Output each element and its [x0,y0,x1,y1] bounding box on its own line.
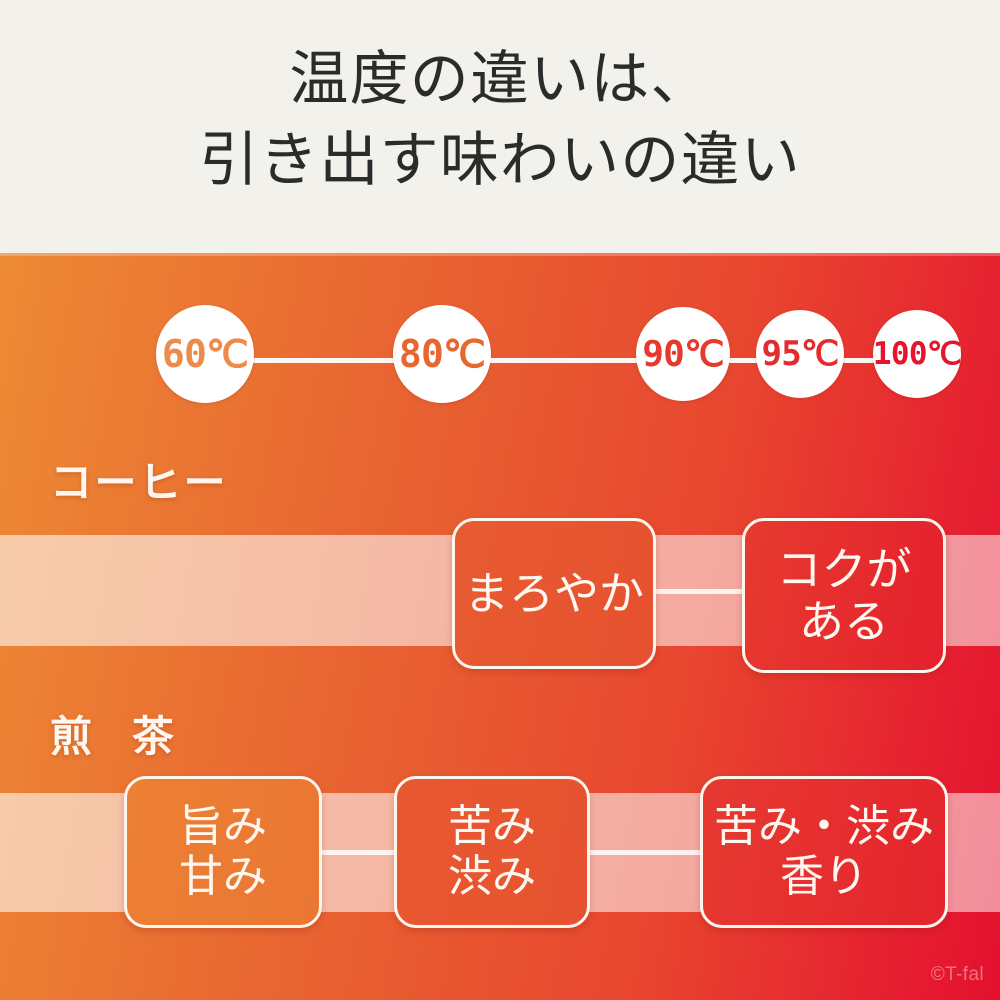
tea-taste-box-umami-text: 旨み 甘み [179,802,267,902]
tea-taste-box-nigami-text: 苦み 渋み [448,802,536,902]
tea-connector-rail-2 [586,850,706,855]
coffee-taste-box-maroyaka[interactable]: まろやか [452,518,656,669]
temp-stop-100-label: 100℃ [873,336,961,372]
tea-taste-box-umami[interactable]: 旨み 甘み [124,776,322,928]
tea-taste-box-nigami[interactable]: 苦み 渋み [394,776,590,928]
infographic-root: 温度の違いは、 引き出す味わいの違い 60℃ 80℃ 90℃ [0,0,1000,1000]
temp-stop-95[interactable]: 95℃ [756,310,844,398]
page-title: 温度の違いは、 引き出す味わいの違い [0,38,1000,201]
temp-connector-60-80 [250,358,398,363]
section-label-coffee: コーヒー [50,449,228,510]
temp-stop-90[interactable]: 90℃ [636,307,730,401]
tea-taste-box-kaori-text: 苦み・渋み 香り [714,802,934,902]
coffee-taste-box-koku[interactable]: コクが ある [742,518,946,673]
temp-stop-95-label: 95℃ [761,334,838,374]
temp-stop-80-label: 80℃ [399,332,485,376]
gradient-panel: 60℃ 80℃ 90℃ 95℃ 100℃ コーヒー まろやか コクが ある 煎 … [0,253,1000,1000]
temp-stop-60[interactable]: 60℃ [156,305,254,403]
page-title-line1: 温度の違いは、 [289,44,710,113]
coffee-connector-rail [650,589,750,594]
temperature-scale: 60℃ 80℃ 90℃ 95℃ 100℃ [0,253,1000,403]
temp-stop-100[interactable]: 100℃ [873,310,961,398]
tea-connector-rail-1 [318,850,400,855]
tea-taste-box-kaori[interactable]: 苦み・渋み 香り [700,776,948,928]
page-title-line2: 引き出す味わいの違い [0,119,1000,200]
coffee-taste-box-koku-text: コクが ある [776,544,911,647]
temp-connector-80-90 [487,358,639,363]
temp-stop-60-label: 60℃ [162,332,248,376]
section-label-sencha: 煎 茶 [50,703,186,764]
coffee-taste-box-maroyaka-text: まろやか [464,568,644,619]
temp-connector-95-100 [842,358,875,363]
temp-stop-80[interactable]: 80℃ [393,305,491,403]
copyright-notice: ©T-fal [931,964,984,986]
temp-stop-90-label: 90℃ [642,334,724,375]
temp-connector-90-95 [727,358,759,363]
header-band: 温度の違いは、 引き出す味わいの違い [0,0,1000,253]
